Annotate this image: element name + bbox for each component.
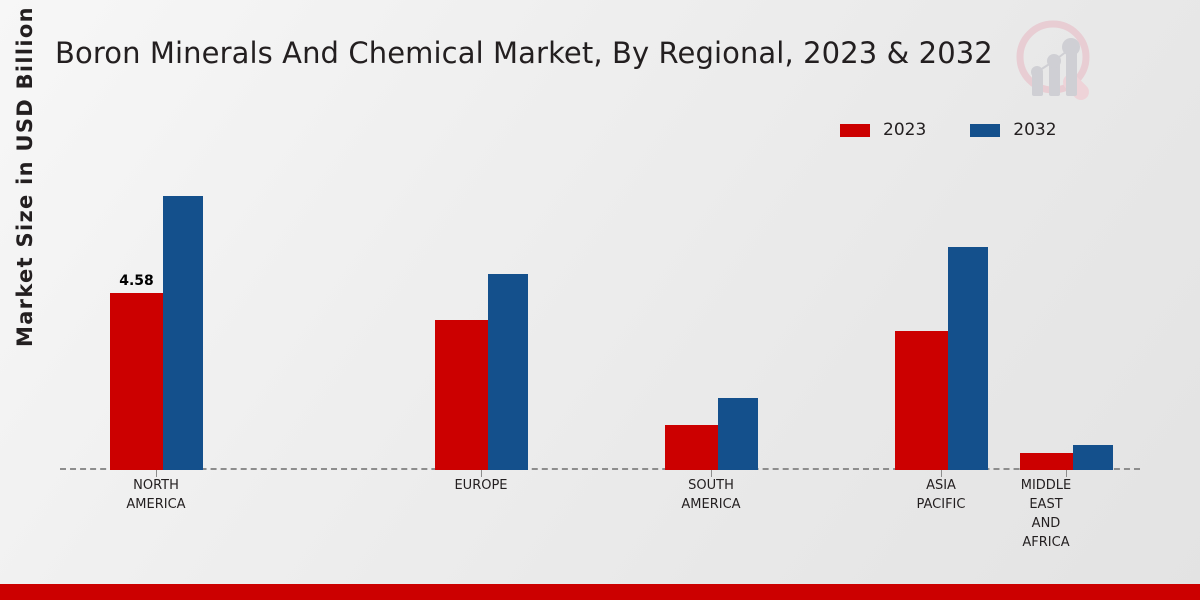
legend-item-2023[interactable]: 2023 <box>840 120 926 140</box>
bar-2023-south-america[interactable] <box>665 425 718 470</box>
bar-value-label-north-america-2023: 4.58 <box>110 273 163 289</box>
x-label-middle-east-and-africa: MIDDLEEASTANDAFRICA <box>981 476 1111 552</box>
bar-2032-asia-pacific[interactable] <box>948 247 988 470</box>
x-label-europe: EUROPE <box>396 476 566 495</box>
bars-asia-pacific <box>895 160 988 470</box>
chart-legend: 2023 2032 <box>840 120 1057 140</box>
chart-page: Boron Minerals And Chemical Market, By R… <box>0 0 1200 600</box>
chart-title: Boron Minerals And Chemical Market, By R… <box>55 36 993 70</box>
bar-2023-middle-east-and-africa[interactable] <box>1020 453 1073 470</box>
bars-europe <box>435 160 528 470</box>
legend-item-2032[interactable]: 2032 <box>970 120 1056 140</box>
x-label-south-america: SOUTHAMERICA <box>626 476 796 514</box>
bar-2023-north-america[interactable]: 4.58 <box>110 293 163 470</box>
legend-label-2032: 2032 <box>1013 120 1056 140</box>
footer-band <box>0 584 1200 600</box>
legend-label-2023: 2023 <box>883 120 926 140</box>
bars-south-america <box>665 160 758 470</box>
legend-swatch-2023 <box>840 124 870 137</box>
bar-2023-europe[interactable] <box>435 320 488 470</box>
y-axis-title: Market Size in USD Billion <box>13 17 37 347</box>
plot-area: 4.58 NORTHAMERICA EUROPE SOUTHAMERICA <box>60 160 1140 470</box>
bar-2032-middle-east-and-africa[interactable] <box>1073 445 1113 470</box>
bar-2023-asia-pacific[interactable] <box>895 331 948 470</box>
legend-swatch-2032 <box>970 124 1000 137</box>
bar-2032-north-america[interactable] <box>163 196 203 470</box>
bar-2032-south-america[interactable] <box>718 398 758 470</box>
bars-north-america: 4.58 <box>110 160 203 470</box>
x-label-north-america: NORTHAMERICA <box>71 476 241 514</box>
bars-middle-east-and-africa <box>1020 160 1113 470</box>
magnifying-glass-bar-chart-logo-icon <box>1010 14 1102 110</box>
bar-2032-europe[interactable] <box>488 274 528 470</box>
